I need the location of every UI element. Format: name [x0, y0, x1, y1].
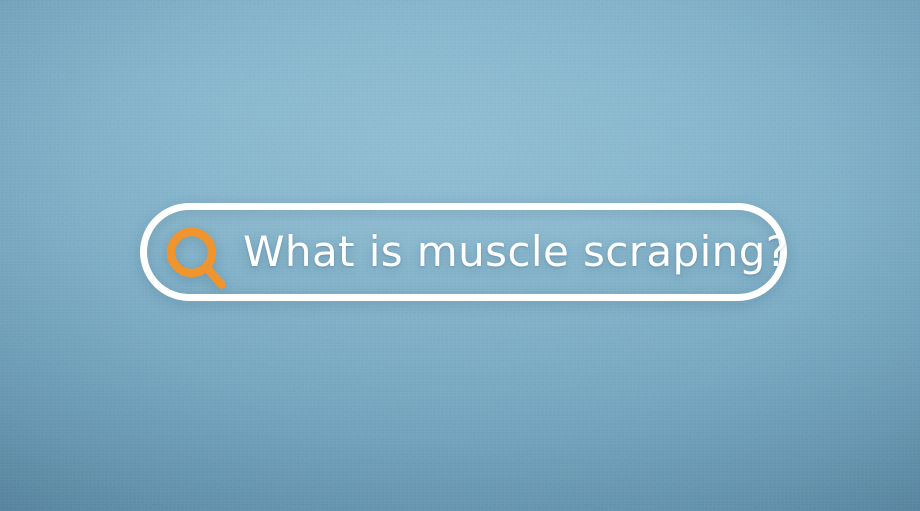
- search-query-text[interactable]: What is muscle scraping?: [243, 231, 788, 273]
- screenshot-canvas: What is muscle scraping?: [0, 0, 920, 511]
- search-bar[interactable]: What is muscle scraping?: [140, 203, 787, 301]
- search-icon[interactable]: [166, 227, 228, 291]
